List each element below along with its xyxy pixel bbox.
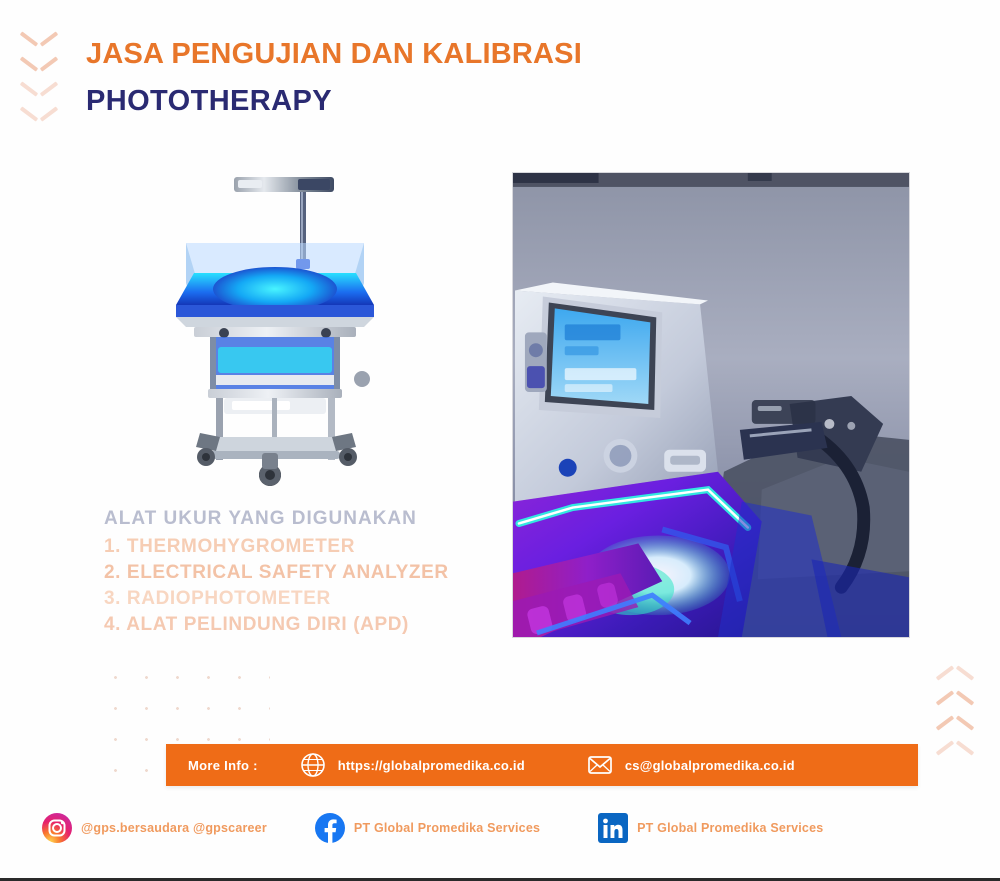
tool-list-item: 3. RADIOPHOTOMETER <box>104 588 449 610</box>
chevron-down-icon <box>22 76 56 92</box>
chevron-down-icon <box>22 101 56 117</box>
email-contact[interactable]: cs@globalpromedika.co.id <box>587 752 795 778</box>
more-info-label: More Info : <box>188 758 258 773</box>
contact-bar: More Info : https://globalpromedika.co.i… <box>166 744 918 786</box>
page-title: JASA PENGUJIAN DAN KALIBRASI <box>86 38 582 71</box>
chevron-up-icon <box>938 672 972 688</box>
globe-icon <box>300 752 326 778</box>
social-linkedin[interactable]: PT Global Promedika Services <box>598 813 823 843</box>
email-address[interactable]: cs@globalpromedika.co.id <box>625 758 795 773</box>
website-contact[interactable]: https://globalpromedika.co.id <box>300 752 525 778</box>
chevron-up-icon <box>938 722 972 738</box>
tool-list-item: 1. THERMOHYGROMETER <box>104 536 449 558</box>
website-url[interactable]: https://globalpromedika.co.id <box>338 758 525 773</box>
envelope-icon <box>587 752 613 778</box>
chevron-decoration-top-left <box>22 26 56 126</box>
slide-canvas: JASA PENGUJIAN DAN KALIBRASI PHOTOTHERAP… <box>0 0 1000 881</box>
linkedin-page-name[interactable]: PT Global Promedika Services <box>637 821 823 835</box>
social-instagram[interactable]: @gps.bersaudara @gpscareer <box>42 813 267 843</box>
linkedin-icon <box>598 813 628 843</box>
chevron-up-icon <box>938 697 972 713</box>
tool-list-item: 4. ALAT PELINDUNG DIRI (APD) <box>104 614 449 636</box>
instagram-icon <box>42 813 72 843</box>
chevron-up-icon <box>938 747 972 763</box>
facebook-icon <box>315 813 345 843</box>
page-subtitle: PHOTOTHERAPY <box>86 85 332 118</box>
social-media-row: @gps.bersaudara @gpscareer PT Global Pro… <box>42 806 962 850</box>
phototherapy-trolley-illustration <box>150 165 400 495</box>
measuring-tools-heading: ALAT UKUR YANG DIGUNAKAN <box>104 508 449 530</box>
social-facebook[interactable]: PT Global Promedika Services <box>315 813 540 843</box>
measuring-tools-block: ALAT UKUR YANG DIGUNAKAN 1. THERMOHYGROM… <box>104 508 449 640</box>
tool-list-item: 2. ELECTRICAL SAFETY ANALYZER <box>104 562 449 584</box>
chevron-down-icon <box>22 26 56 42</box>
chevron-decoration-bottom-right <box>938 672 972 772</box>
instagram-handle[interactable]: @gps.bersaudara @gpscareer <box>81 821 267 835</box>
chevron-down-icon <box>22 51 56 67</box>
phototherapy-device-photo <box>512 172 910 638</box>
facebook-page-name[interactable]: PT Global Promedika Services <box>354 821 540 835</box>
